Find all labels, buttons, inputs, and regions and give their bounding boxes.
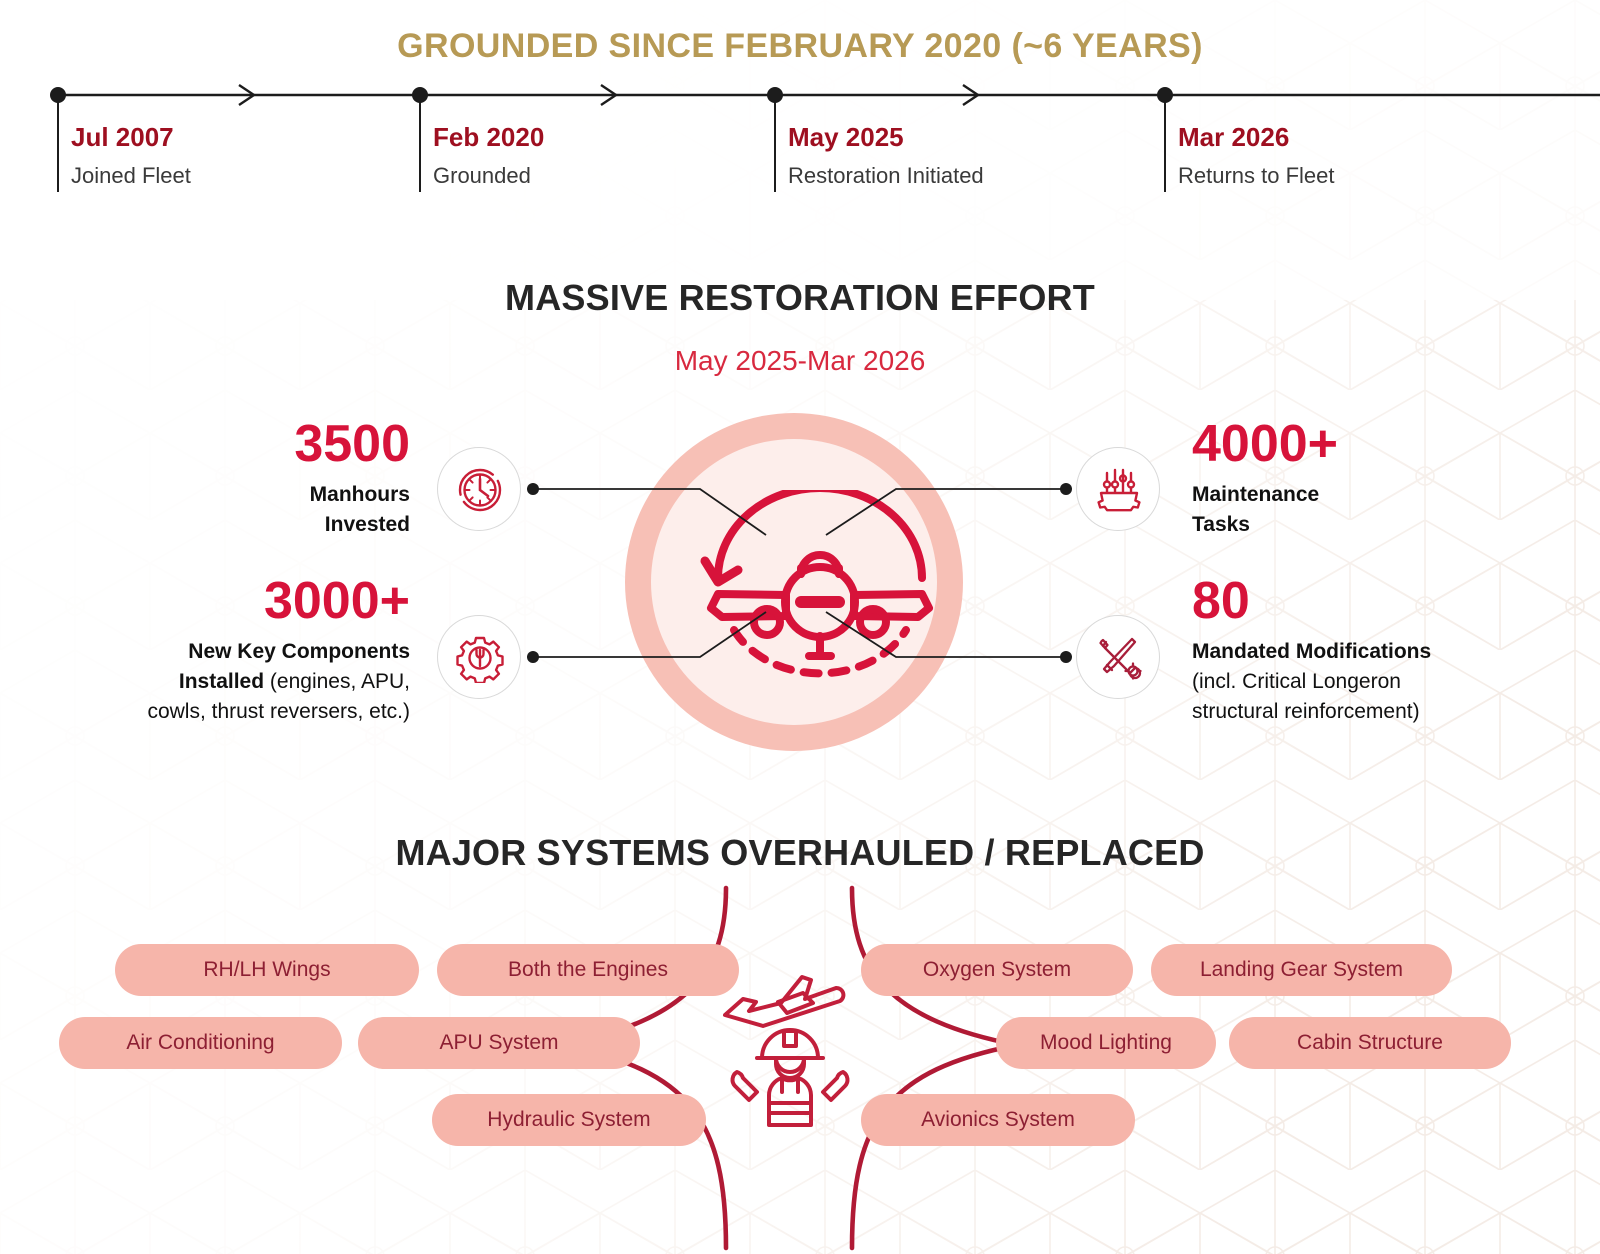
stat-description: ManhoursInvested bbox=[30, 480, 410, 540]
system-pill[interactable]: Avionics System bbox=[861, 1094, 1135, 1146]
gear-settings-icon-bubble bbox=[1076, 447, 1160, 531]
clock-icon bbox=[455, 465, 505, 515]
system-pill[interactable]: Mood Lighting bbox=[996, 1017, 1216, 1069]
system-pill[interactable]: Both the Engines bbox=[437, 944, 739, 996]
gear-wrench-icon bbox=[455, 633, 505, 683]
gear-settings-icon bbox=[1094, 465, 1144, 515]
system-pill[interactable]: APU System bbox=[358, 1017, 640, 1069]
system-pill[interactable]: Cabin Structure bbox=[1229, 1017, 1511, 1069]
stat-value: 3500 bbox=[30, 418, 410, 470]
stat-mandated-modifications: 80 Mandated Modifications(incl. Critical… bbox=[1192, 575, 1592, 728]
restoration-title: MASSIVE RESTORATION EFFORT bbox=[0, 277, 1600, 319]
system-pill[interactable]: Landing Gear System bbox=[1151, 944, 1452, 996]
system-pill[interactable]: Hydraulic System bbox=[432, 1094, 706, 1146]
timeline-label: Joined Fleet bbox=[71, 163, 191, 189]
timeline-tick bbox=[774, 94, 776, 192]
system-pill[interactable]: RH/LH Wings bbox=[115, 944, 419, 996]
stat-value: 80 bbox=[1192, 575, 1592, 627]
wrench-screwdriver-icon bbox=[1094, 633, 1144, 683]
timeline-axis bbox=[0, 80, 1600, 110]
stat-description: New Key ComponentsInstalled (engines, AP… bbox=[30, 637, 410, 728]
wrench-screwdriver-icon-bubble bbox=[1076, 615, 1160, 699]
timeline-label: Restoration Initiated bbox=[788, 163, 984, 189]
systems-title: MAJOR SYSTEMS OVERHAULED / REPLACED bbox=[0, 832, 1600, 874]
clock-icon-bubble bbox=[437, 447, 521, 531]
timeline-tick bbox=[419, 94, 421, 192]
gear-wrench-icon-bubble bbox=[437, 615, 521, 699]
timeline-tick bbox=[1164, 94, 1166, 192]
restoration-period: May 2025-Mar 2026 bbox=[0, 345, 1600, 377]
stat-manhours: 3500 ManhoursInvested bbox=[30, 418, 410, 540]
system-pill[interactable]: Oxygen System bbox=[861, 944, 1133, 996]
timeline-label: Returns to Fleet bbox=[1178, 163, 1335, 189]
timeline-date: May 2025 bbox=[788, 122, 904, 153]
aircraft-mechanic-icon bbox=[707, 955, 873, 1130]
timeline-date: Feb 2020 bbox=[433, 122, 544, 153]
system-pill[interactable]: Air Conditioning bbox=[59, 1017, 342, 1069]
grounded-banner: GROUNDED SINCE FEBRUARY 2020 (~6 YEARS) bbox=[0, 27, 1600, 66]
stat-new-components: 3000+ New Key ComponentsInstalled (engin… bbox=[30, 575, 410, 728]
timeline-date: Mar 2026 bbox=[1178, 122, 1289, 153]
stat-maintenance-tasks: 4000+ MaintenanceTasks bbox=[1192, 418, 1582, 540]
stat-value: 3000+ bbox=[30, 575, 410, 627]
stat-description: Mandated Modifications(incl. Critical Lo… bbox=[1192, 637, 1592, 728]
timeline-label: Grounded bbox=[433, 163, 531, 189]
timeline-date: Jul 2007 bbox=[71, 122, 174, 153]
stat-value: 4000+ bbox=[1192, 418, 1582, 470]
timeline-tick bbox=[57, 94, 59, 192]
stat-description: MaintenanceTasks bbox=[1192, 480, 1582, 540]
